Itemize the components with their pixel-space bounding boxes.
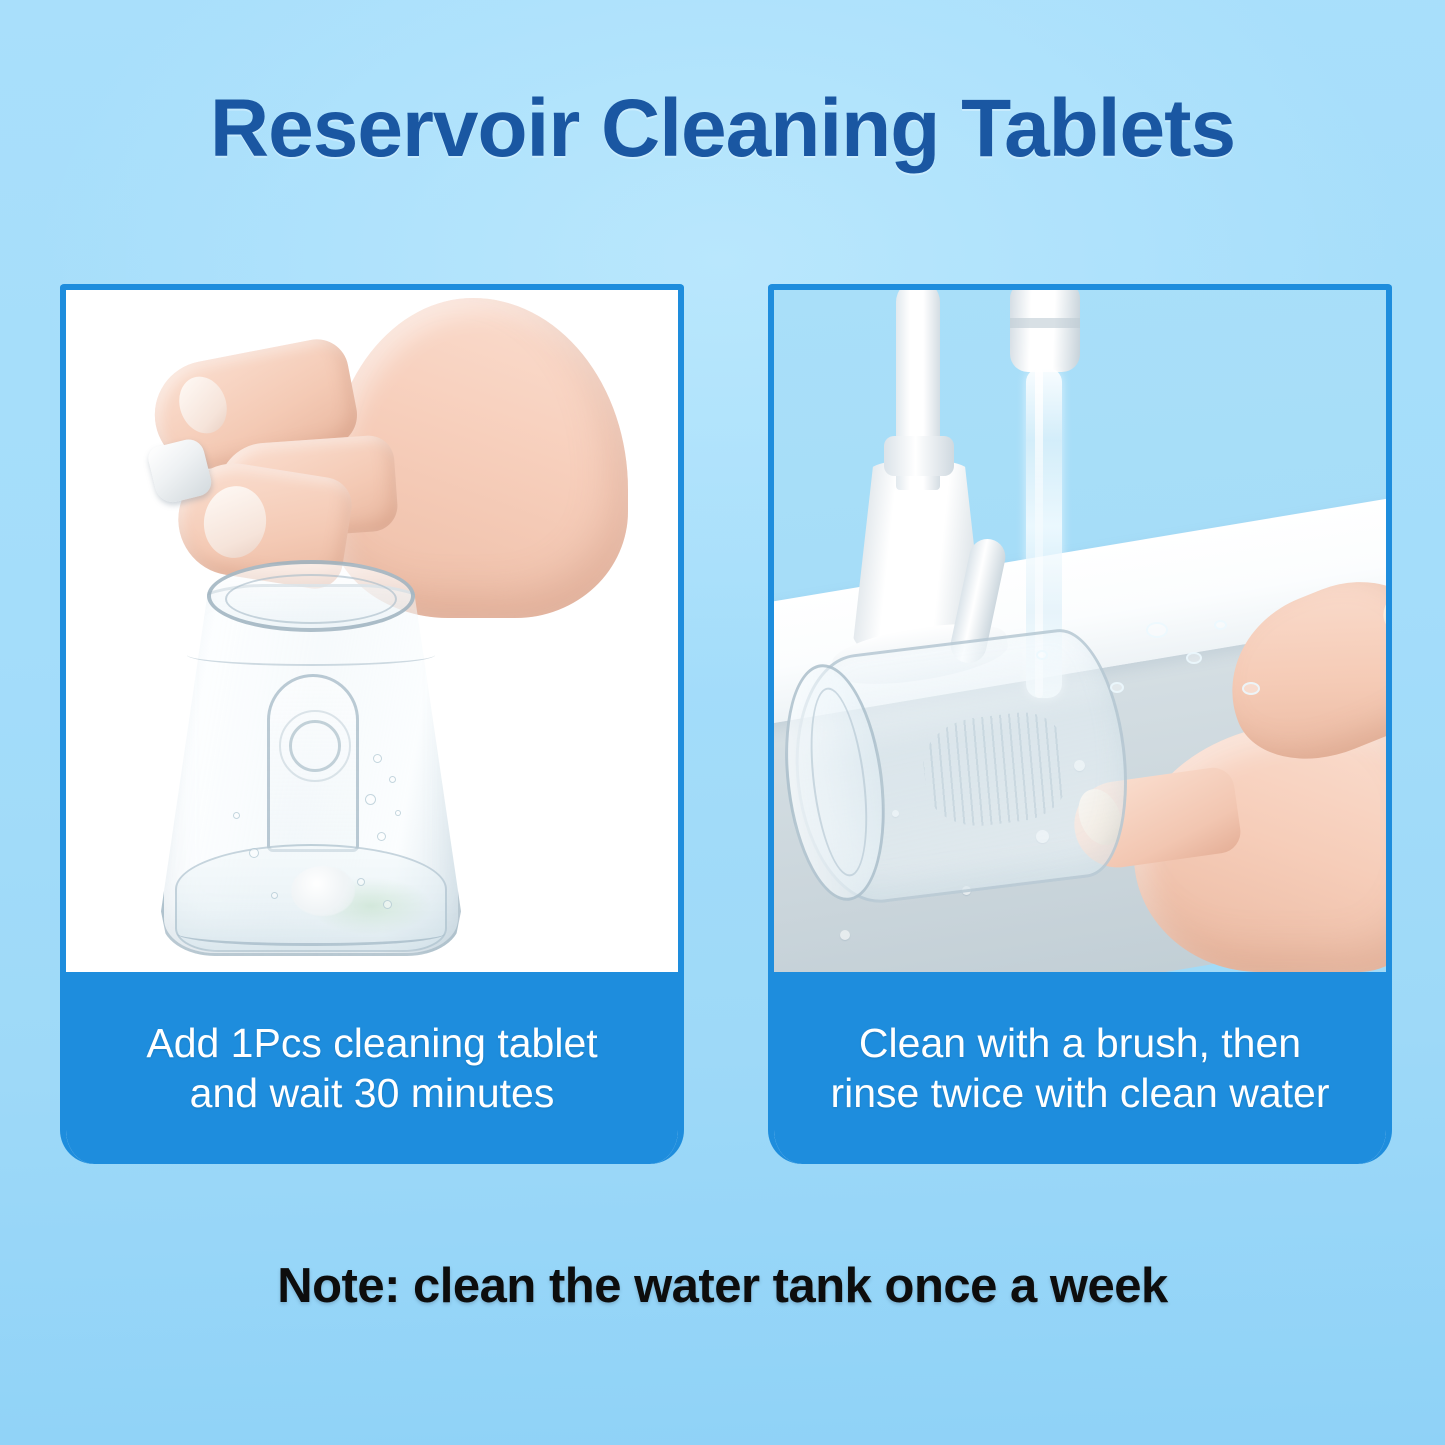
- tank-rim-inner: [225, 574, 397, 624]
- bubble-icon: [389, 776, 396, 783]
- bottom-note: Note: clean the water tank once a week: [0, 1258, 1445, 1314]
- splash-drop: [1146, 622, 1168, 638]
- step-1-caption: Add 1Pcs cleaning tablet and wait 30 min…: [60, 972, 684, 1164]
- bubble-icon: [249, 848, 259, 858]
- step-2-caption: Clean with a brush, then rinse twice wit…: [768, 972, 1392, 1164]
- step-1-caption-line2: and wait 30 minutes: [190, 1070, 555, 1116]
- step-2-photo: [774, 290, 1386, 978]
- bubble-icon: [373, 754, 382, 763]
- faucet-spout-head: [1010, 290, 1080, 372]
- step-1-caption-line1: Add 1Pcs cleaning tablet: [146, 1020, 597, 1066]
- bubble-icon: [271, 892, 278, 899]
- page-title: Reservoir Cleaning Tablets: [0, 88, 1445, 170]
- step-card-1: Add 1Pcs cleaning tablet and wait 30 min…: [60, 284, 684, 1164]
- step-2-caption-line1: Clean with a brush, then: [859, 1020, 1301, 1066]
- tank-inner-ring: [289, 720, 341, 772]
- bubble-icon: [395, 810, 401, 816]
- splash-drop: [1214, 620, 1227, 630]
- splash-drop: [1186, 652, 1202, 664]
- water-droplet: [840, 930, 850, 940]
- step-card-2: Clean with a brush, then rinse twice wit…: [768, 284, 1392, 1164]
- splash-drop: [1110, 682, 1124, 693]
- step-2-caption-line2: rinse twice with clean water: [830, 1070, 1329, 1116]
- tank-shelf-line: [187, 644, 435, 666]
- faucet-collar: [884, 436, 954, 476]
- product-infographic: Reservoir Cleaning Tablets: [0, 0, 1445, 1445]
- water-reservoir-tank: [161, 548, 461, 958]
- bubble-icon: [233, 812, 240, 819]
- bubble-icon: [357, 878, 365, 886]
- bubble-icon: [377, 832, 386, 841]
- step-1-photo: [66, 290, 678, 978]
- splash-drop: [1242, 682, 1260, 695]
- faucet-spout-ring: [1010, 318, 1080, 328]
- bubble-icon: [383, 900, 392, 909]
- dissolving-tablet: [291, 866, 355, 916]
- water-reservoir-tank-rinsing: [782, 623, 1140, 911]
- splash-drop: [1036, 650, 1048, 660]
- bubble-icon: [365, 794, 376, 805]
